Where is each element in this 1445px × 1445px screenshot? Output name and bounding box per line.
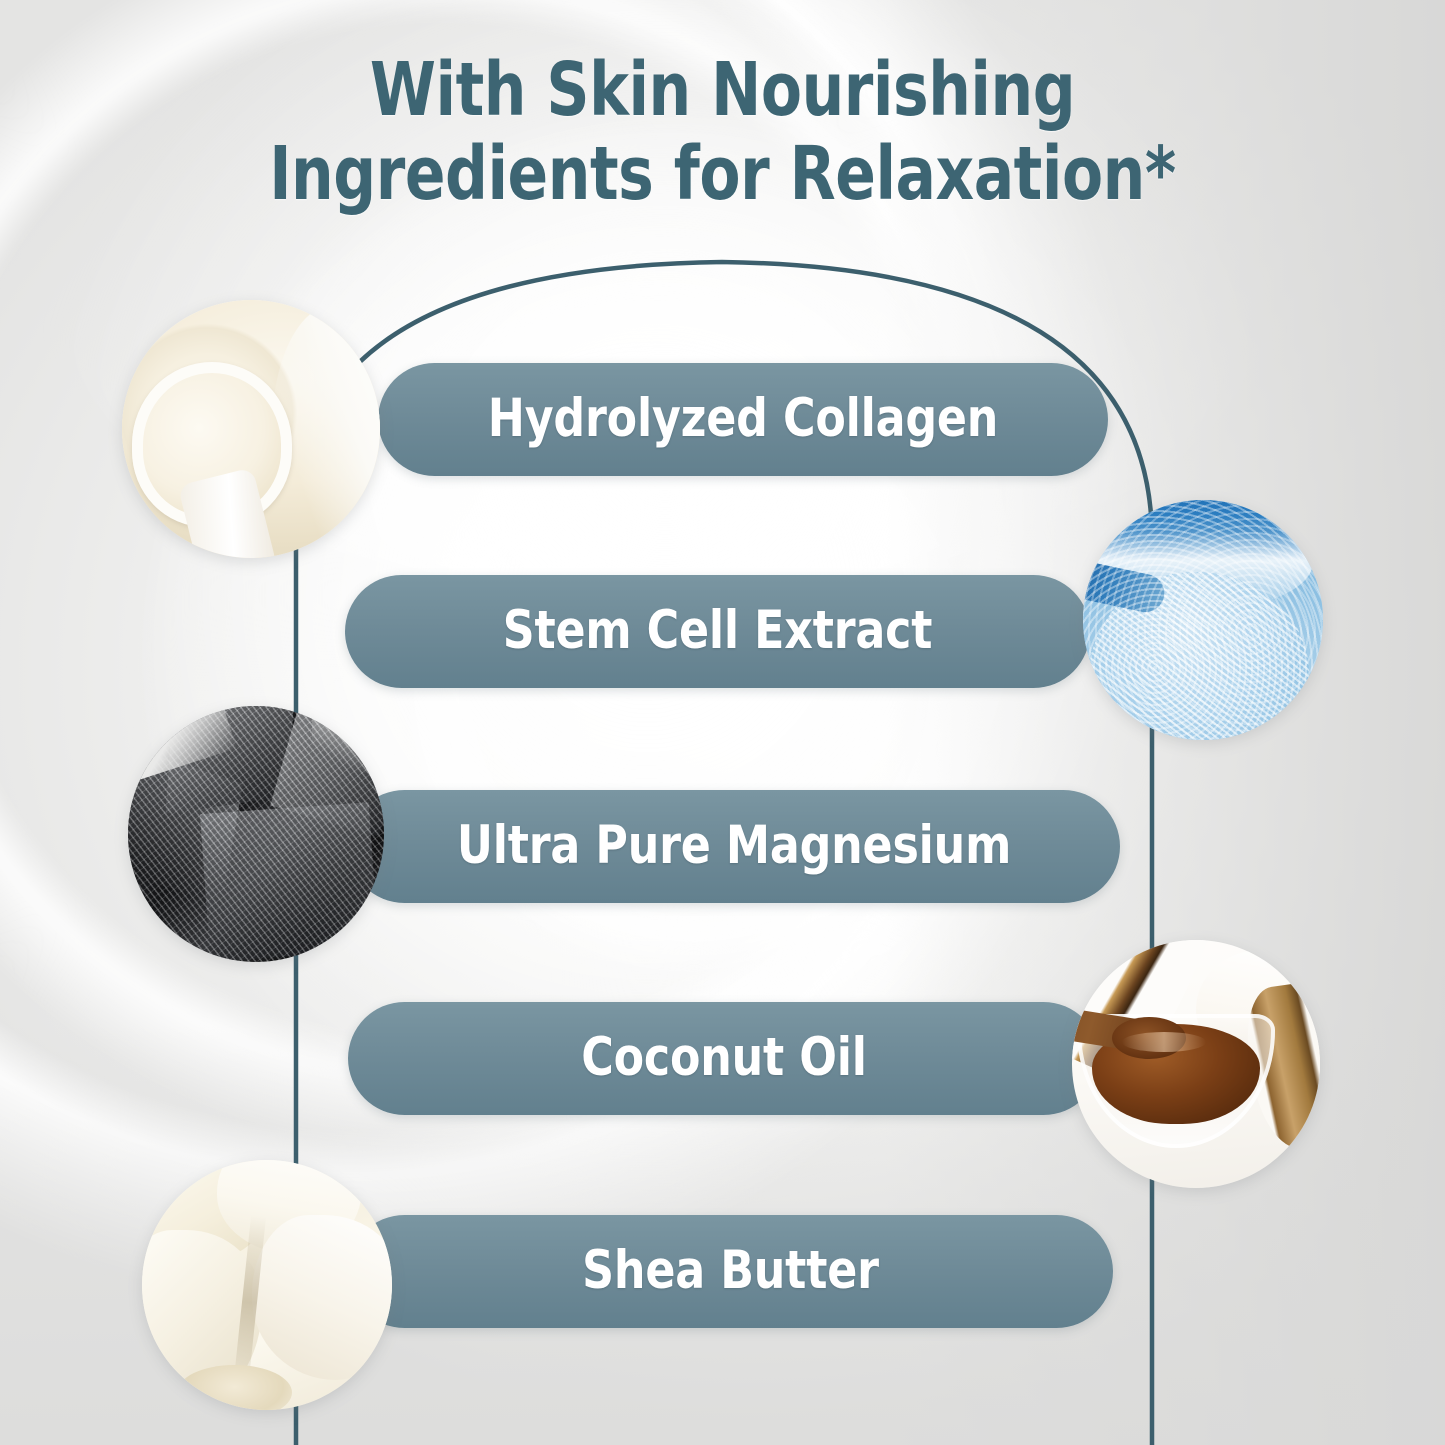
ingredient-pill-coconut-oil[interactable]: Coconut Oil	[348, 1002, 1100, 1115]
ingredient-pill-shea-butter[interactable]: Shea Butter	[348, 1215, 1113, 1328]
ingredient-label: Coconut Oil	[374, 1027, 1073, 1091]
ingredient-label: Shea Butter	[375, 1240, 1086, 1304]
stem-cell-blue-powder-photo	[1083, 500, 1323, 740]
ingredient-pill-stem-cell-extract[interactable]: Stem Cell Extract	[345, 575, 1090, 688]
page-title: With Skin Nourishing Ingredients for Rel…	[72, 48, 1373, 217]
ingredient-label: Ultra Pure Magnesium	[375, 815, 1093, 879]
ingredient-pill-hydrolyzed-collagen[interactable]: Hydrolyzed Collagen	[378, 363, 1108, 476]
ingredient-pill-ultra-pure-magnesium[interactable]: Ultra Pure Magnesium	[348, 790, 1120, 903]
collagen-powder-scoop-photo	[122, 300, 380, 558]
ingredient-label: Hydrolyzed Collagen	[404, 388, 1083, 452]
coconut-oil-bowl-photo	[1072, 940, 1320, 1188]
ingredient-label: Stem Cell Extract	[371, 600, 1064, 664]
ingredient-infographic: With Skin Nourishing Ingredients for Rel…	[0, 0, 1445, 1445]
shea-butter-chunks-photo	[142, 1160, 392, 1410]
magnesium-mineral-photo	[128, 706, 384, 962]
